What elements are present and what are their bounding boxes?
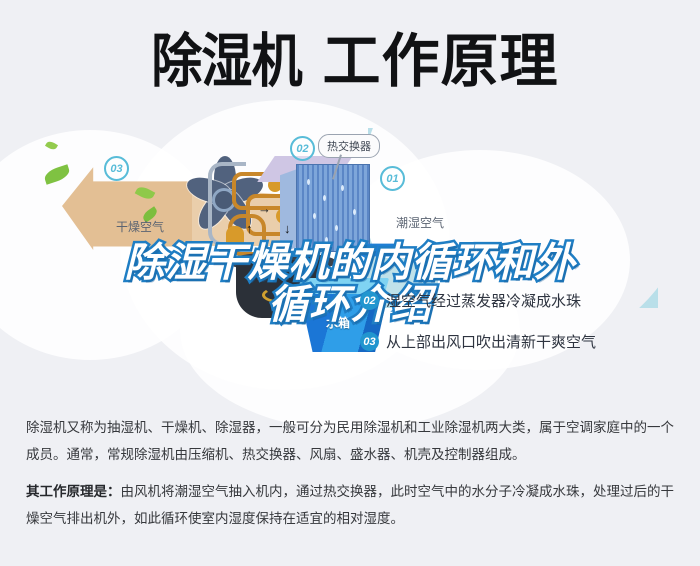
infographic-page: 除湿机 工作原理: [0, 0, 700, 566]
flow-arrow-down-icon: ↓: [284, 222, 291, 235]
body-paragraph-2-lead: 其工作原理是：: [26, 484, 121, 499]
badge-moist-air: 01: [380, 166, 405, 191]
caption-text: 从上部出风口吹出清新干爽空气: [386, 331, 596, 352]
caption-badge: 02: [360, 291, 379, 310]
flow-arrow-right-icon: →: [258, 202, 271, 215]
caption-list: 02 湿空气经过蒸发器冷凝成水珠 03 从上部出风口吹出清新干爽空气: [360, 290, 690, 372]
badge-heat-exchanger: 02: [290, 136, 315, 161]
body-copy: 除湿机又称为抽湿机、干燥机、除湿器，一般可分为民用除湿机和工业除湿机两大类，属于…: [26, 414, 676, 542]
list-item: 02 湿空气经过蒸发器冷凝成水珠: [360, 290, 690, 311]
flow-arrow-up-icon: ↑: [246, 222, 253, 235]
label-dry-air: 干燥空气: [116, 218, 164, 235]
body-paragraph-2: 其工作原理是：由风机将潮湿空气抽入机内，通过热交换器，此时空气中的水分子冷凝成水…: [26, 478, 676, 532]
body-paragraph-2-text: 由风机将潮湿空气抽入机内，通过热交换器，此时空气中的水分子冷凝成水珠，处理过后的…: [26, 484, 674, 526]
page-title-part1: 除湿机: [152, 33, 302, 91]
body-paragraph-1: 除湿机又称为抽湿机、干燥机、除湿器，一般可分为民用除湿机和工业除湿机两大类，属于…: [26, 414, 676, 468]
page-title: 除湿机 工作原理: [0, 22, 700, 102]
caption-text: 湿空气经过蒸发器冷凝成水珠: [386, 290, 581, 311]
water-tank-label: 水箱: [326, 314, 350, 331]
list-item: 03 从上部出风口吹出清新干爽空气: [360, 331, 690, 352]
label-heat-exchanger: 热交换器: [318, 134, 380, 158]
page-title-part2: 工作原理: [323, 33, 559, 91]
badge-dry-air: 03: [104, 156, 129, 181]
label-moist-air: 潮湿空气: [396, 214, 444, 231]
caption-badge: 03: [360, 332, 379, 351]
